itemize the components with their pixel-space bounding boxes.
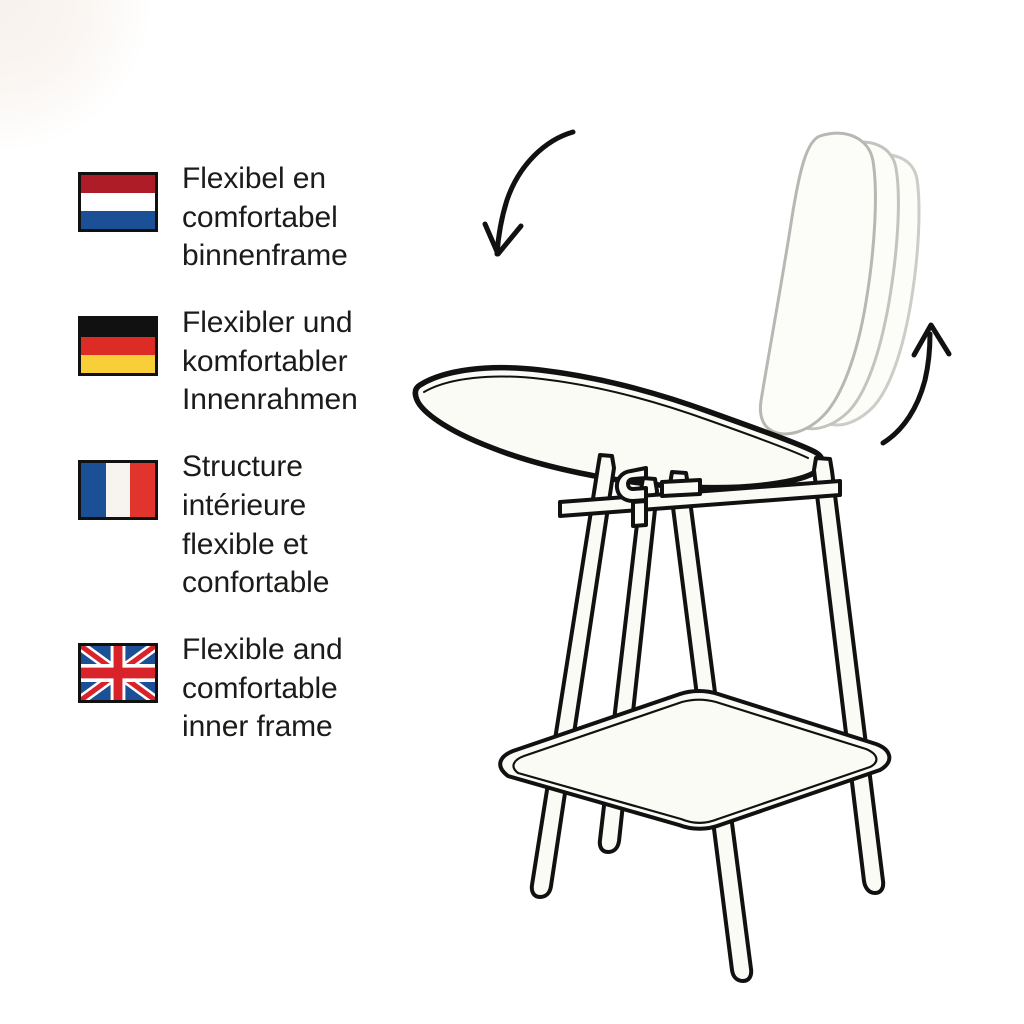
rear-right-leg bbox=[814, 458, 883, 893]
flag-germany bbox=[78, 316, 158, 376]
flag-france bbox=[78, 460, 158, 520]
legend-label-english: Flexible and comfortable inner frame bbox=[182, 631, 343, 747]
corner-tint-decoration bbox=[0, 0, 150, 150]
flag-netherlands bbox=[78, 172, 158, 232]
legend-row-english: Flexible and comfortable inner frame bbox=[78, 631, 408, 747]
swivel-bracket bbox=[617, 468, 646, 526]
legend-row-german: Flexibler und komfortabler Innenrahmen bbox=[78, 304, 408, 420]
flag-united-kingdom bbox=[78, 643, 158, 703]
legend-row-french: Structure intérieure flexible et confort… bbox=[78, 448, 408, 603]
infographic-page: Flexibel en comfortabel binnenframe Flex… bbox=[0, 0, 1024, 1024]
legend-label-dutch: Flexibel en comfortabel binnenframe bbox=[182, 160, 348, 276]
legend-row-dutch: Flexibel en comfortabel binnenframe bbox=[78, 160, 408, 276]
seat-cushion bbox=[415, 368, 822, 488]
language-legend: Flexibel en comfortabel binnenframe Flex… bbox=[78, 160, 408, 775]
legend-label-french: Structure intérieure flexible et confort… bbox=[182, 448, 329, 603]
legend-label-german: Flexibler und komfortabler Innenrahmen bbox=[182, 304, 358, 420]
bar-stool-illustration bbox=[400, 40, 1024, 1024]
